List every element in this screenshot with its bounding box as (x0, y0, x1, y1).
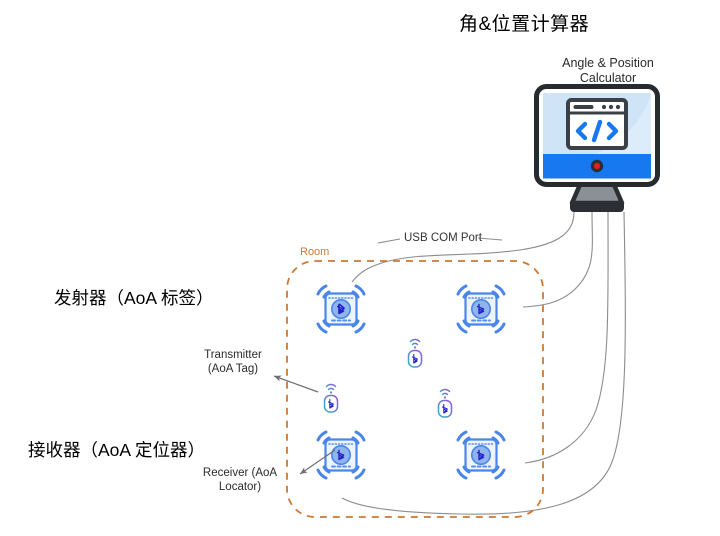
usb-com-port-label: USB COM Port (404, 232, 482, 244)
receiver-label-en: Receiver (AoA Locator) (192, 466, 288, 494)
transmitter-label-en: Transmitter (AoA Tag) (196, 348, 270, 376)
receiver-label-cn: 接收器（AoA 定位器） (28, 437, 205, 462)
transmitter-label-cn: 发射器（AoA 标签） (54, 285, 213, 310)
diagram-canvas: 角&位置计算器 Angle & Position Calculator Room… (0, 0, 720, 536)
room-label: Room (300, 246, 329, 258)
page-title: 角&位置计算器 (459, 9, 589, 36)
calculator-label: Angle & Position Calculator (548, 56, 668, 86)
